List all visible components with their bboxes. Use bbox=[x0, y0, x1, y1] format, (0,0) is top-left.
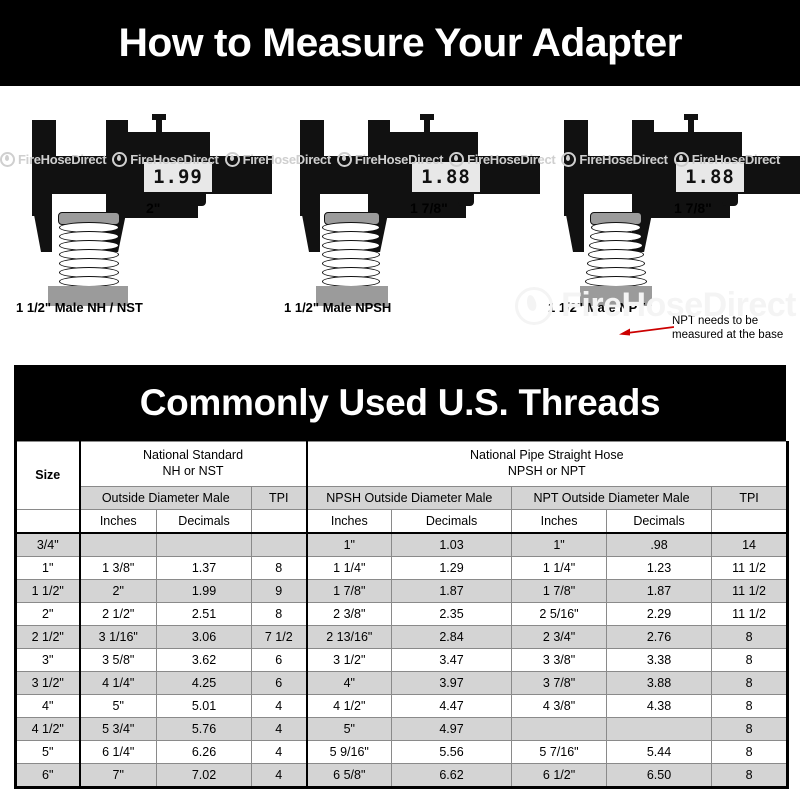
header-od-male-nh: Outside Diameter Male bbox=[80, 487, 252, 510]
cell-nh-in: 3 1/16" bbox=[80, 626, 157, 649]
cell-npsh-dec: 1.87 bbox=[392, 580, 512, 603]
flame-logo-icon bbox=[0, 152, 15, 167]
npt-pointer-arrow-icon bbox=[618, 324, 674, 336]
cell-npt-tpi: 11 1/2 bbox=[712, 557, 788, 580]
cell-npt-dec bbox=[607, 718, 712, 741]
header-tpi-nh: TPI bbox=[252, 487, 307, 510]
cell-size: 1" bbox=[16, 557, 80, 580]
caliper-lcd-display: 1.88 bbox=[410, 160, 482, 194]
table-row: 4 1/2"5 3/4"5.7645"4.978 bbox=[16, 718, 788, 741]
threaded-fitting-nh-nst bbox=[54, 212, 122, 288]
cell-size: 4 1/2" bbox=[16, 718, 80, 741]
cell-npt-tpi: 14 bbox=[712, 533, 788, 557]
cell-nh-dec: 5.76 bbox=[157, 718, 252, 741]
cell-nh-tpi: 4 bbox=[252, 741, 307, 764]
header-group-npsh-line1: National Pipe Straight Hose bbox=[308, 448, 787, 464]
cell-npsh-in: 3 1/2" bbox=[307, 649, 392, 672]
cell-npt-dec: 6.50 bbox=[607, 764, 712, 788]
diagram-label-npt: 1 1/2" Male NPT bbox=[548, 300, 645, 315]
cell-npsh-in: 4" bbox=[307, 672, 392, 695]
table-row: 1"1 3/8"1.3781 1/4"1.291 1/4"1.2311 1/2 bbox=[16, 557, 788, 580]
cell-npt-dec: 3.88 bbox=[607, 672, 712, 695]
caliper-slider-body bbox=[368, 132, 478, 158]
caliper-diagram-npsh: 1.88 1 7/8" 1 1/2" Male NPSH bbox=[282, 108, 540, 338]
table-group-header-row: Size National Standard NH or NST Nationa… bbox=[16, 442, 788, 487]
cell-nh-tpi: 6 bbox=[252, 649, 307, 672]
table-title-banner: Commonly Used U.S. Threads bbox=[14, 365, 786, 441]
table-unit-row: Inches Decimals Inches Decimals Inches D… bbox=[16, 510, 788, 534]
measurement-callout: 2" bbox=[146, 200, 160, 216]
cell-npt-tpi: 8 bbox=[712, 764, 788, 788]
cell-npsh-dec: 5.56 bbox=[392, 741, 512, 764]
cell-npt-dec: 2.76 bbox=[607, 626, 712, 649]
cell-size: 1 1/2" bbox=[16, 580, 80, 603]
threads-table: Size National Standard NH or NST Nationa… bbox=[14, 441, 789, 789]
npt-annotation-line2: measured at the base bbox=[672, 328, 783, 342]
diagram-label-npsh: 1 1/2" Male NPSH bbox=[284, 300, 391, 315]
cell-nh-in: 2 1/2" bbox=[80, 603, 157, 626]
cell-npt-dec: 3.38 bbox=[607, 649, 712, 672]
table-row: 5"6 1/4"6.2645 9/16"5.565 7/16"5.448 bbox=[16, 741, 788, 764]
cell-nh-dec: 3.06 bbox=[157, 626, 252, 649]
table-row: 2"2 1/2"2.5182 3/8"2.352 5/16"2.2911 1/2 bbox=[16, 603, 788, 626]
unit-decimals-nh: Decimals bbox=[157, 510, 252, 534]
table-subheader-row: Outside Diameter Male TPI NPSH Outside D… bbox=[16, 487, 788, 510]
unit-inches-npsh: Inches bbox=[307, 510, 392, 534]
header-size: Size bbox=[16, 442, 80, 510]
measurement-callout: 1 7/8" bbox=[674, 200, 712, 216]
page-title: How to Measure Your Adapter bbox=[118, 21, 682, 66]
cell-nh-dec: 2.51 bbox=[157, 603, 252, 626]
cell-npt-in bbox=[512, 718, 607, 741]
cell-npsh-in: 1 7/8" bbox=[307, 580, 392, 603]
cell-nh-in: 3 5/8" bbox=[80, 649, 157, 672]
caliper-lcd-display: 1.88 bbox=[674, 160, 746, 194]
cell-npsh-dec: 6.62 bbox=[392, 764, 512, 788]
cell-npt-dec: 1.87 bbox=[607, 580, 712, 603]
caliper-reading: 1.88 bbox=[421, 166, 471, 188]
cell-npsh-in: 6 5/8" bbox=[307, 764, 392, 788]
unit-tpi-npt-blank bbox=[712, 510, 788, 534]
cell-nh-in: 5 3/4" bbox=[80, 718, 157, 741]
table-body: 3/4"1"1.031".98141"1 3/8"1.3781 1/4"1.29… bbox=[16, 533, 788, 788]
cell-size: 3/4" bbox=[16, 533, 80, 557]
cell-nh-tpi: 6 bbox=[252, 672, 307, 695]
cell-nh-in: 5" bbox=[80, 695, 157, 718]
cell-npt-tpi: 8 bbox=[712, 718, 788, 741]
table-row: 1 1/2"2"1.9991 7/8"1.871 7/8"1.8711 1/2 bbox=[16, 580, 788, 603]
cell-nh-tpi: 4 bbox=[252, 718, 307, 741]
cell-npsh-dec: 3.97 bbox=[392, 672, 512, 695]
cell-nh-in: 6 1/4" bbox=[80, 741, 157, 764]
cell-size: 2" bbox=[16, 603, 80, 626]
cell-size: 3" bbox=[16, 649, 80, 672]
cell-npt-in: 4 3/8" bbox=[512, 695, 607, 718]
cell-npsh-in: 1 1/4" bbox=[307, 557, 392, 580]
cell-nh-dec: 5.01 bbox=[157, 695, 252, 718]
cell-size: 3 1/2" bbox=[16, 672, 80, 695]
cell-nh-in: 4 1/4" bbox=[80, 672, 157, 695]
cell-nh-tpi bbox=[252, 533, 307, 557]
cell-nh-tpi: 8 bbox=[252, 603, 307, 626]
cell-npt-in: 3 3/8" bbox=[512, 649, 607, 672]
caliper-diagram-area: 1.99 2" 1 1/2" Male NH / NST bbox=[0, 86, 800, 358]
cell-npsh-dec: 4.97 bbox=[392, 718, 512, 741]
cell-npsh-in: 1" bbox=[307, 533, 392, 557]
header-group-npsh-npt: National Pipe Straight Hose NPSH or NPT bbox=[307, 442, 788, 487]
cell-nh-dec: 7.02 bbox=[157, 764, 252, 788]
infographic-page: How to Measure Your Adapter bbox=[0, 0, 800, 800]
header-npt-od-male: NPT Outside Diameter Male bbox=[512, 487, 712, 510]
caliper-slider-nub bbox=[190, 192, 206, 206]
cell-npt-in: 6 1/2" bbox=[512, 764, 607, 788]
cell-npt-dec: 2.29 bbox=[607, 603, 712, 626]
cell-npt-tpi: 11 1/2 bbox=[712, 603, 788, 626]
cell-npt-dec: 5.44 bbox=[607, 741, 712, 764]
caliper-slider-nub bbox=[722, 192, 738, 206]
caliper-fixed-jaw-tip bbox=[32, 204, 52, 252]
caliper-upper-jaw-fixed bbox=[44, 120, 56, 160]
cell-nh-in: 1 3/8" bbox=[80, 557, 157, 580]
caliper-upper-jaw-fixed bbox=[576, 120, 588, 160]
table-row: 4"5"5.0144 1/2"4.474 3/8"4.388 bbox=[16, 695, 788, 718]
cell-size: 2 1/2" bbox=[16, 626, 80, 649]
cell-npsh-dec: 1.29 bbox=[392, 557, 512, 580]
cell-nh-tpi: 7 1/2 bbox=[252, 626, 307, 649]
cell-npt-dec: 4.38 bbox=[607, 695, 712, 718]
header-group-nh-line1: National Standard bbox=[81, 448, 306, 464]
cell-npsh-in: 4 1/2" bbox=[307, 695, 392, 718]
table-row: 6"7"7.0246 5/8"6.626 1/2"6.508 bbox=[16, 764, 788, 788]
cell-npt-in: 1" bbox=[512, 533, 607, 557]
cell-nh-in: 2" bbox=[80, 580, 157, 603]
cell-npsh-dec: 4.47 bbox=[392, 695, 512, 718]
cell-nh-dec: 3.62 bbox=[157, 649, 252, 672]
cell-npt-tpi: 8 bbox=[712, 695, 788, 718]
cell-npt-tpi: 8 bbox=[712, 672, 788, 695]
header-group-npsh-line2: NPSH or NPT bbox=[308, 464, 787, 480]
cell-npsh-in: 5 9/16" bbox=[307, 741, 392, 764]
header-group-nh-line2: NH or NST bbox=[81, 464, 306, 480]
cell-nh-tpi: 9 bbox=[252, 580, 307, 603]
cell-size: 6" bbox=[16, 764, 80, 788]
cell-npsh-dec: 2.84 bbox=[392, 626, 512, 649]
cell-nh-dec: 6.26 bbox=[157, 741, 252, 764]
header-group-national-standard: National Standard NH or NST bbox=[80, 442, 307, 487]
cell-size: 4" bbox=[16, 695, 80, 718]
page-title-banner: How to Measure Your Adapter bbox=[0, 0, 800, 86]
cell-npsh-in: 2 3/8" bbox=[307, 603, 392, 626]
cell-npsh-in: 5" bbox=[307, 718, 392, 741]
npt-annotation-line1: NPT needs to be bbox=[672, 314, 783, 328]
table-row: 2 1/2"3 1/16"3.067 1/22 13/16"2.842 3/4"… bbox=[16, 626, 788, 649]
caliper-fixed-jaw-tip bbox=[564, 204, 584, 252]
cell-npt-in: 1 1/4" bbox=[512, 557, 607, 580]
cell-npt-in: 5 7/16" bbox=[512, 741, 607, 764]
cell-nh-in: 7" bbox=[80, 764, 157, 788]
unit-size-blank bbox=[16, 510, 80, 534]
caliper-diagram-nh-nst: 1.99 2" 1 1/2" Male NH / NST bbox=[14, 108, 272, 338]
cell-size: 5" bbox=[16, 741, 80, 764]
unit-decimals-npt: Decimals bbox=[607, 510, 712, 534]
cell-npt-in: 3 7/8" bbox=[512, 672, 607, 695]
caliper-fixed-jaw-tip bbox=[300, 204, 320, 252]
cell-npsh-dec: 1.03 bbox=[392, 533, 512, 557]
cell-nh-tpi: 8 bbox=[252, 557, 307, 580]
cell-nh-tpi: 4 bbox=[252, 695, 307, 718]
caliper-reading: 1.88 bbox=[685, 166, 735, 188]
cell-npt-in: 2 5/16" bbox=[512, 603, 607, 626]
cell-npt-in: 2 3/4" bbox=[512, 626, 607, 649]
cell-nh-dec: 1.37 bbox=[157, 557, 252, 580]
measurement-callout: 1 7/8" bbox=[410, 200, 448, 216]
diagram-label-nh-nst: 1 1/2" Male NH / NST bbox=[16, 300, 143, 315]
unit-decimals-npsh: Decimals bbox=[392, 510, 512, 534]
cell-npsh-dec: 3.47 bbox=[392, 649, 512, 672]
caliper-slider-body bbox=[106, 132, 210, 158]
cell-nh-in bbox=[80, 533, 157, 557]
caliper-upper-jaw-fixed bbox=[312, 120, 324, 160]
cell-npt-tpi: 8 bbox=[712, 626, 788, 649]
cell-nh-dec: 4.25 bbox=[157, 672, 252, 695]
table-row: 3 1/2"4 1/4"4.2564"3.973 7/8"3.888 bbox=[16, 672, 788, 695]
cell-npt-dec: 1.23 bbox=[607, 557, 712, 580]
cell-npt-in: 1 7/8" bbox=[512, 580, 607, 603]
unit-tpi-nh-blank bbox=[252, 510, 307, 534]
cell-npsh-in: 2 13/16" bbox=[307, 626, 392, 649]
header-tpi-npt: TPI bbox=[712, 487, 788, 510]
cell-nh-tpi: 4 bbox=[252, 764, 307, 788]
unit-inches-npt: Inches bbox=[512, 510, 607, 534]
table-row: 3/4"1"1.031".9814 bbox=[16, 533, 788, 557]
cell-npsh-dec: 2.35 bbox=[392, 603, 512, 626]
cell-npt-dec: .98 bbox=[607, 533, 712, 557]
cell-nh-dec: 1.99 bbox=[157, 580, 252, 603]
table-row: 3"3 5/8"3.6263 1/2"3.473 3/8"3.388 bbox=[16, 649, 788, 672]
cell-npt-tpi: 8 bbox=[712, 741, 788, 764]
threaded-fitting-npt bbox=[584, 212, 652, 288]
unit-inches-nh: Inches bbox=[80, 510, 157, 534]
cell-nh-dec bbox=[157, 533, 252, 557]
table-header: Size National Standard NH or NST Nationa… bbox=[16, 442, 788, 534]
npt-annotation: NPT needs to be measured at the base bbox=[672, 314, 783, 343]
cell-npt-tpi: 8 bbox=[712, 649, 788, 672]
header-npsh-od-male: NPSH Outside Diameter Male bbox=[307, 487, 512, 510]
caliper-slider-nub bbox=[458, 192, 474, 206]
caliper-diagram-npt: 1.88 1 7/8" 1 1/2" Male NPT bbox=[546, 108, 800, 338]
caliper-reading: 1.99 bbox=[153, 166, 203, 188]
cell-npt-tpi: 11 1/2 bbox=[712, 580, 788, 603]
table-title: Commonly Used U.S. Threads bbox=[140, 382, 661, 424]
threaded-fitting-npsh bbox=[320, 212, 388, 288]
caliper-lcd-display: 1.99 bbox=[142, 160, 214, 194]
caliper-slider-body bbox=[632, 132, 742, 158]
